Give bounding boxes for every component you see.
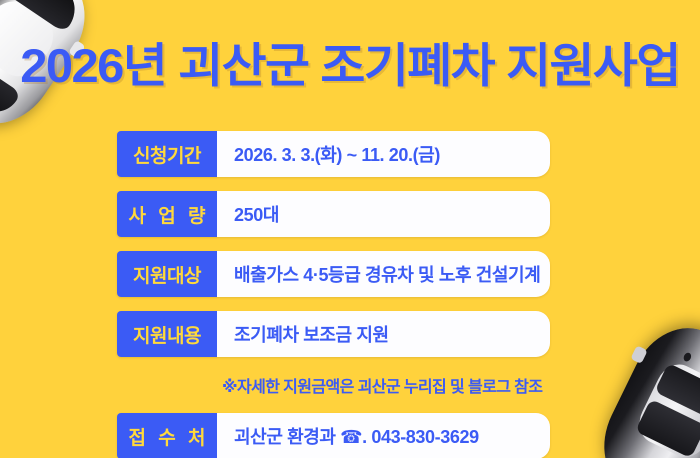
car-mirror-left — [630, 345, 647, 364]
car-body — [585, 311, 700, 458]
info-table: 신청기간 2026. 3. 3.(화) ~ 11. 20.(금) 사 업 량 2… — [117, 131, 550, 458]
row-value-support-details: 조기폐차 보조금 지원 — [217, 311, 550, 357]
row-label-support-details: 지원내용 — [117, 311, 217, 357]
table-row: 지원내용 조기폐차 보조금 지원 — [117, 311, 550, 357]
dark-car-icon — [585, 311, 700, 458]
table-row: 신청기간 2026. 3. 3.(화) ~ 11. 20.(금) — [117, 131, 550, 177]
row-label-quantity: 사 업 량 — [117, 191, 217, 237]
row-value-quantity: 250대 — [217, 191, 550, 237]
poster-canvas: 2026년 괴산군 조기폐차 지원사업 신청기간 2026. 3. 3.(화) … — [0, 0, 700, 458]
car-hood-detail — [682, 352, 692, 363]
car-rear-window — [636, 399, 700, 458]
page-title: 2026년 괴산군 조기폐차 지원사업 — [0, 38, 700, 94]
row-value-eligibility: 배출가스 4·5등급 경유차 및 노후 건설기계 — [217, 251, 550, 297]
support-amount-note: ※자세한 지원금액은 괴산군 누리집 및 블로그 참조 — [117, 369, 550, 401]
row-label-application-period: 신청기간 — [117, 131, 217, 177]
row-value-application-period: 2026. 3. 3.(화) ~ 11. 20.(금) — [217, 131, 550, 177]
car-windshield — [1, 0, 85, 34]
row-value-contact: 괴산군 환경과 ☎. 043-830-3629 — [217, 413, 550, 458]
row-label-contact: 접 수 처 — [117, 413, 217, 458]
car-windshield — [655, 363, 700, 418]
row-label-eligibility: 지원대상 — [117, 251, 217, 297]
table-row: 사 업 량 250대 — [117, 191, 550, 237]
car-roof — [632, 357, 700, 458]
table-row: 접 수 처 괴산군 환경과 ☎. 043-830-3629 — [117, 413, 550, 458]
table-row: 지원대상 배출가스 4·5등급 경유차 및 노후 건설기계 — [117, 251, 550, 297]
